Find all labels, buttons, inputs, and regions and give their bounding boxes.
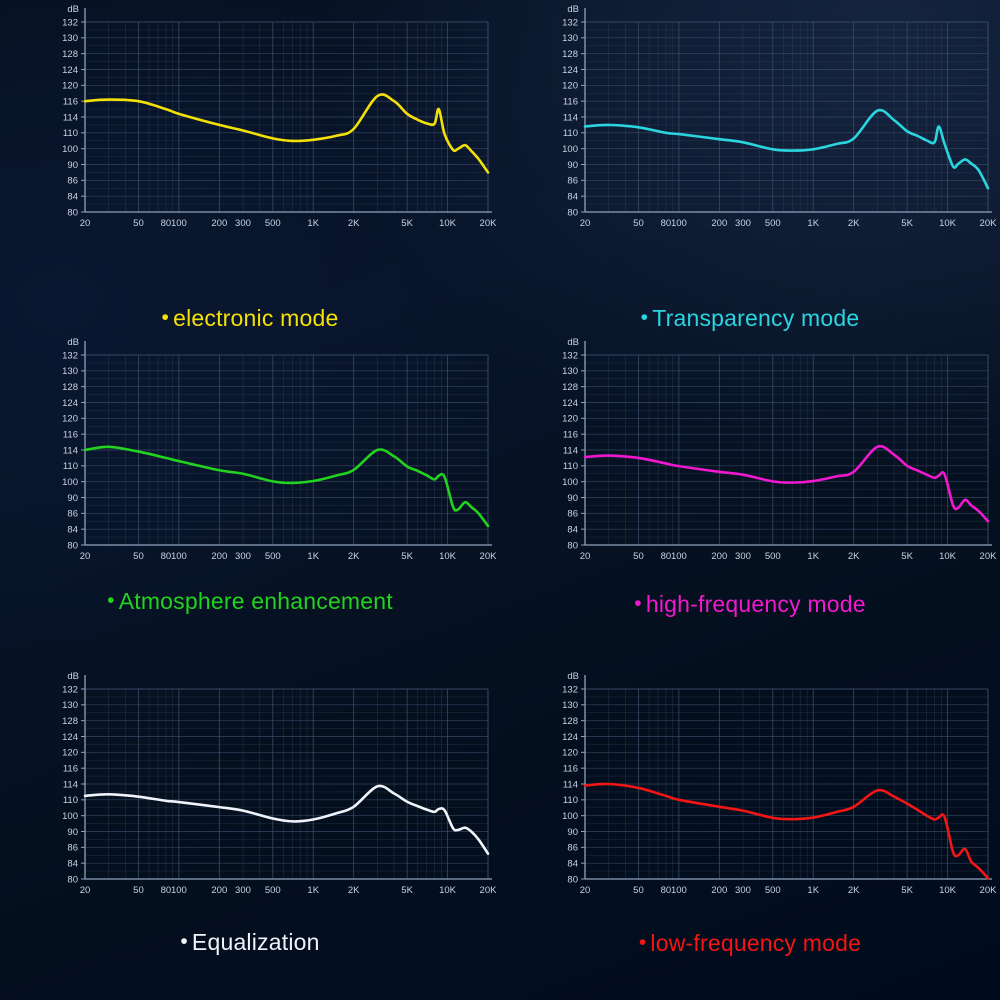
x-tick-label: 300 xyxy=(235,885,251,896)
bullet-icon: • xyxy=(639,931,647,954)
y-axis-unit-label: dB xyxy=(567,671,579,682)
y-tick-label: 116 xyxy=(63,97,78,108)
y-tick-label: 100 xyxy=(62,811,78,822)
x-tick-label: 10K xyxy=(439,551,457,562)
x-tick-label: 50 xyxy=(633,218,644,229)
grid-lines xyxy=(85,355,488,545)
x-tick-label: 2K xyxy=(348,218,360,229)
y-tick-label: 132 xyxy=(562,684,578,695)
axis-lines xyxy=(585,341,992,545)
response-curve xyxy=(85,786,488,854)
chart-caption: •low-frequency mode xyxy=(500,930,1000,957)
x-tick-label: 20 xyxy=(580,218,591,229)
y-tick-label: 128 xyxy=(562,49,578,60)
frequency-response-plot: dB13213012812412011611411010090868480205… xyxy=(0,0,500,333)
x-axis-tick-labels: 2050801002003005001K2K5K10K20K xyxy=(580,218,997,229)
x-tick-label: 20 xyxy=(580,551,591,562)
grid-lines xyxy=(585,355,988,545)
x-tick-label: 20 xyxy=(80,551,91,562)
x-tick-label: 20K xyxy=(480,885,498,896)
x-tick-label: 1K xyxy=(307,551,319,562)
y-tick-label: 130 xyxy=(62,33,78,44)
y-tick-label: 132 xyxy=(562,351,578,362)
x-tick-label: 20K xyxy=(480,218,498,229)
axis-lines xyxy=(85,675,492,879)
x-tick-label: 1K xyxy=(807,218,819,229)
y-tick-label: 114 xyxy=(563,779,578,790)
x-tick-label: 500 xyxy=(265,885,281,896)
x-tick-label: 200 xyxy=(711,218,727,229)
chart-panel-transparency-mode: dB13213012812412011611411010090868480205… xyxy=(500,0,1000,333)
x-tick-label: 300 xyxy=(235,218,251,229)
y-tick-label: 130 xyxy=(562,700,578,711)
y-tick-label: 116 xyxy=(563,97,578,108)
x-tick-label: 100 xyxy=(671,551,687,562)
y-tick-label: 120 xyxy=(62,81,78,92)
y-tick-label: 124 xyxy=(562,398,578,409)
x-tick-label: 200 xyxy=(711,885,727,896)
x-tick-label: 2K xyxy=(848,218,860,229)
chart-panel-high-frequency-mode: dB13213012812412011611411010090868480205… xyxy=(500,333,1000,666)
y-tick-label: 84 xyxy=(567,192,578,203)
response-curve xyxy=(585,784,988,878)
y-tick-label: 132 xyxy=(62,351,78,362)
y-tick-label: 120 xyxy=(62,747,78,758)
x-tick-label: 5K xyxy=(901,218,913,229)
y-tick-label: 110 xyxy=(563,795,578,806)
grid-lines xyxy=(85,689,488,879)
y-axis-tick-labels: dB13213012812412011611411010090868480 xyxy=(62,671,85,885)
response-curve xyxy=(585,447,988,522)
x-tick-label: 500 xyxy=(765,218,781,229)
y-axis-tick-labels: dB13213012812412011611411010090868480 xyxy=(62,337,85,551)
y-axis-tick-labels: dB13213012812412011611411010090868480 xyxy=(62,4,85,218)
y-tick-label: 110 xyxy=(63,128,78,139)
x-tick-label: 5K xyxy=(901,551,913,562)
frequency-response-plot: dB13213012812412011611411010090868480205… xyxy=(0,333,500,666)
x-tick-label: 10K xyxy=(439,885,457,896)
x-tick-label: 200 xyxy=(711,551,727,562)
y-tick-label: 84 xyxy=(67,858,78,869)
x-tick-label: 5K xyxy=(401,218,413,229)
y-tick-label: 128 xyxy=(62,716,78,727)
y-tick-label: 90 xyxy=(67,493,78,504)
y-tick-label: 124 xyxy=(62,398,78,409)
chart-title: low-frequency mode xyxy=(650,930,861,956)
y-tick-label: 80 xyxy=(567,874,578,885)
x-tick-label: 500 xyxy=(265,218,281,229)
y-tick-label: 130 xyxy=(62,700,78,711)
x-tick-label: 80 xyxy=(161,218,172,229)
y-tick-label: 110 xyxy=(63,462,78,473)
chart-caption: •electronic mode xyxy=(0,305,500,332)
y-tick-label: 110 xyxy=(563,462,578,473)
chart-panel-low-frequency-mode: dB13213012812412011611411010090868480205… xyxy=(500,667,1000,1000)
bullet-icon: • xyxy=(180,930,188,953)
chart-container: dB13213012812412011611411010090868480205… xyxy=(0,0,500,333)
chart-caption: •high-frequency mode xyxy=(500,591,1000,618)
y-tick-label: 100 xyxy=(562,144,578,155)
y-tick-label: 120 xyxy=(562,414,578,425)
x-tick-label: 2K xyxy=(848,885,860,896)
y-tick-label: 116 xyxy=(63,763,78,774)
response-curve xyxy=(85,447,488,526)
x-axis-tick-labels: 2050801002003005001K2K5K10K20K xyxy=(80,551,497,562)
x-tick-label: 5K xyxy=(901,885,913,896)
y-tick-label: 110 xyxy=(563,128,578,139)
y-tick-label: 100 xyxy=(62,477,78,488)
y-tick-label: 114 xyxy=(63,112,78,123)
y-tick-label: 80 xyxy=(67,541,78,552)
y-tick-label: 120 xyxy=(562,747,578,758)
x-tick-label: 100 xyxy=(171,551,187,562)
chart-title: electronic mode xyxy=(173,305,338,331)
y-tick-label: 110 xyxy=(63,795,78,806)
response-curve xyxy=(85,94,488,172)
chart-title: Transparency mode xyxy=(652,305,859,331)
x-axis-tick-labels: 2050801002003005001K2K5K10K20K xyxy=(580,885,997,896)
x-tick-label: 1K xyxy=(807,551,819,562)
x-tick-label: 50 xyxy=(633,551,644,562)
y-tick-label: 130 xyxy=(62,367,78,378)
y-tick-label: 120 xyxy=(562,81,578,92)
x-tick-label: 20 xyxy=(80,885,91,896)
x-axis-tick-labels: 2050801002003005001K2K5K10K20K xyxy=(80,885,497,896)
y-tick-label: 86 xyxy=(567,509,578,520)
y-tick-label: 130 xyxy=(562,33,578,44)
x-tick-label: 10K xyxy=(939,885,957,896)
y-tick-label: 80 xyxy=(567,207,578,218)
chart-container: dB13213012812412011611411010090868480205… xyxy=(0,333,500,666)
chart-container: dB13213012812412011611411010090868480205… xyxy=(500,0,1000,333)
x-tick-label: 2K xyxy=(848,551,860,562)
y-tick-label: 114 xyxy=(563,112,578,123)
x-tick-label: 1K xyxy=(307,218,319,229)
frequency-response-chart-board: dB13213012812412011611411010090868480205… xyxy=(0,0,1000,1000)
y-tick-label: 116 xyxy=(63,430,78,441)
x-tick-label: 50 xyxy=(633,885,644,896)
y-axis-unit-label: dB xyxy=(567,4,579,15)
x-tick-label: 20K xyxy=(480,551,498,562)
x-tick-label: 80 xyxy=(661,551,672,562)
chart-panel-atmosphere-enhancement: dB13213012812412011611411010090868480205… xyxy=(0,333,500,666)
x-tick-label: 1K xyxy=(807,885,819,896)
y-tick-label: 84 xyxy=(567,858,578,869)
y-tick-label: 100 xyxy=(562,477,578,488)
x-tick-label: 5K xyxy=(401,885,413,896)
y-axis-tick-labels: dB13213012812412011611411010090868480 xyxy=(562,337,585,551)
y-tick-label: 84 xyxy=(567,525,578,536)
y-tick-label: 100 xyxy=(562,811,578,822)
response-curve xyxy=(585,110,988,188)
bullet-icon: • xyxy=(162,306,170,329)
y-tick-label: 124 xyxy=(62,732,78,743)
chart-caption: •Atmosphere enhancement xyxy=(0,588,500,615)
x-tick-label: 2K xyxy=(348,551,360,562)
x-tick-label: 200 xyxy=(211,885,227,896)
y-tick-label: 86 xyxy=(67,176,78,187)
x-tick-label: 300 xyxy=(735,218,751,229)
y-axis-unit-label: dB xyxy=(67,671,79,682)
x-tick-label: 500 xyxy=(765,885,781,896)
bullet-icon: • xyxy=(107,589,115,612)
y-axis-unit-label: dB xyxy=(67,337,79,348)
x-tick-label: 500 xyxy=(265,551,281,562)
y-tick-label: 80 xyxy=(567,541,578,552)
x-tick-label: 300 xyxy=(735,551,751,562)
x-tick-label: 20K xyxy=(980,551,998,562)
x-axis-tick-labels: 2050801002003005001K2K5K10K20K xyxy=(80,218,497,229)
x-tick-label: 100 xyxy=(671,885,687,896)
x-tick-label: 80 xyxy=(161,885,172,896)
x-tick-label: 10K xyxy=(939,551,957,562)
y-tick-label: 84 xyxy=(67,192,78,203)
chart-title: high-frequency mode xyxy=(646,591,866,617)
y-tick-label: 80 xyxy=(67,207,78,218)
y-tick-label: 128 xyxy=(562,716,578,727)
y-tick-label: 132 xyxy=(62,17,78,28)
x-tick-label: 20 xyxy=(580,885,591,896)
grid-lines xyxy=(585,22,988,212)
x-tick-label: 20K xyxy=(980,218,998,229)
y-tick-label: 116 xyxy=(563,430,578,441)
y-tick-label: 128 xyxy=(562,382,578,393)
y-tick-label: 90 xyxy=(567,827,578,838)
x-tick-label: 50 xyxy=(133,218,144,229)
chart-caption: •Transparency mode xyxy=(500,305,1000,332)
y-axis-tick-labels: dB13213012812412011611411010090868480 xyxy=(562,4,585,218)
chart-title: Atmosphere enhancement xyxy=(119,588,393,614)
y-tick-label: 128 xyxy=(62,382,78,393)
x-tick-label: 300 xyxy=(235,551,251,562)
grid-lines xyxy=(585,689,988,879)
y-tick-label: 116 xyxy=(563,763,578,774)
x-tick-label: 80 xyxy=(161,551,172,562)
x-tick-label: 10K xyxy=(439,218,457,229)
chart-panel-equalization: dB13213012812412011611411010090868480205… xyxy=(0,667,500,1000)
y-tick-label: 90 xyxy=(567,493,578,504)
y-axis-unit-label: dB xyxy=(67,4,79,15)
y-tick-label: 124 xyxy=(562,65,578,76)
frequency-response-plot: dB13213012812412011611411010090868480205… xyxy=(500,0,1000,333)
y-tick-label: 86 xyxy=(67,509,78,520)
x-tick-label: 200 xyxy=(211,218,227,229)
chart-title: Equalization xyxy=(192,929,320,955)
y-axis-tick-labels: dB13213012812412011611411010090868480 xyxy=(562,671,585,885)
y-tick-label: 124 xyxy=(562,732,578,743)
x-tick-label: 5K xyxy=(401,551,413,562)
y-tick-label: 120 xyxy=(62,414,78,425)
y-tick-label: 86 xyxy=(567,842,578,853)
axis-lines xyxy=(585,675,992,879)
grid-lines xyxy=(85,22,488,212)
y-tick-label: 114 xyxy=(63,446,78,457)
bullet-icon: • xyxy=(634,592,642,615)
y-tick-label: 86 xyxy=(567,176,578,187)
chart-panel-electronic-mode: dB13213012812412011611411010090868480205… xyxy=(0,0,500,333)
x-tick-label: 100 xyxy=(171,885,187,896)
y-tick-label: 84 xyxy=(67,525,78,536)
y-tick-label: 128 xyxy=(62,49,78,60)
y-tick-label: 114 xyxy=(563,446,578,457)
y-tick-label: 130 xyxy=(562,367,578,378)
x-tick-label: 2K xyxy=(348,885,360,896)
x-tick-label: 100 xyxy=(671,218,687,229)
x-tick-label: 20 xyxy=(80,218,91,229)
x-tick-label: 10K xyxy=(939,218,957,229)
x-tick-label: 50 xyxy=(133,885,144,896)
y-tick-label: 132 xyxy=(562,17,578,28)
y-tick-label: 80 xyxy=(67,874,78,885)
x-tick-label: 300 xyxy=(735,885,751,896)
x-tick-label: 1K xyxy=(307,885,319,896)
y-tick-label: 114 xyxy=(63,779,78,790)
y-tick-label: 90 xyxy=(67,827,78,838)
y-tick-label: 100 xyxy=(62,144,78,155)
x-tick-label: 50 xyxy=(133,551,144,562)
y-axis-unit-label: dB xyxy=(567,337,579,348)
y-tick-label: 132 xyxy=(62,684,78,695)
x-tick-label: 100 xyxy=(171,218,187,229)
y-tick-label: 124 xyxy=(62,65,78,76)
bullet-icon: • xyxy=(641,306,649,329)
y-tick-label: 90 xyxy=(567,160,578,171)
x-tick-label: 80 xyxy=(661,885,672,896)
x-tick-label: 20K xyxy=(980,885,998,896)
x-tick-label: 500 xyxy=(765,551,781,562)
chart-caption: •Equalization xyxy=(0,929,500,956)
axis-lines xyxy=(585,8,992,212)
x-tick-label: 200 xyxy=(211,551,227,562)
x-axis-tick-labels: 2050801002003005001K2K5K10K20K xyxy=(580,551,997,562)
x-tick-label: 80 xyxy=(661,218,672,229)
y-tick-label: 86 xyxy=(67,842,78,853)
y-tick-label: 90 xyxy=(67,160,78,171)
axis-lines xyxy=(85,341,492,545)
axis-lines xyxy=(85,8,492,212)
